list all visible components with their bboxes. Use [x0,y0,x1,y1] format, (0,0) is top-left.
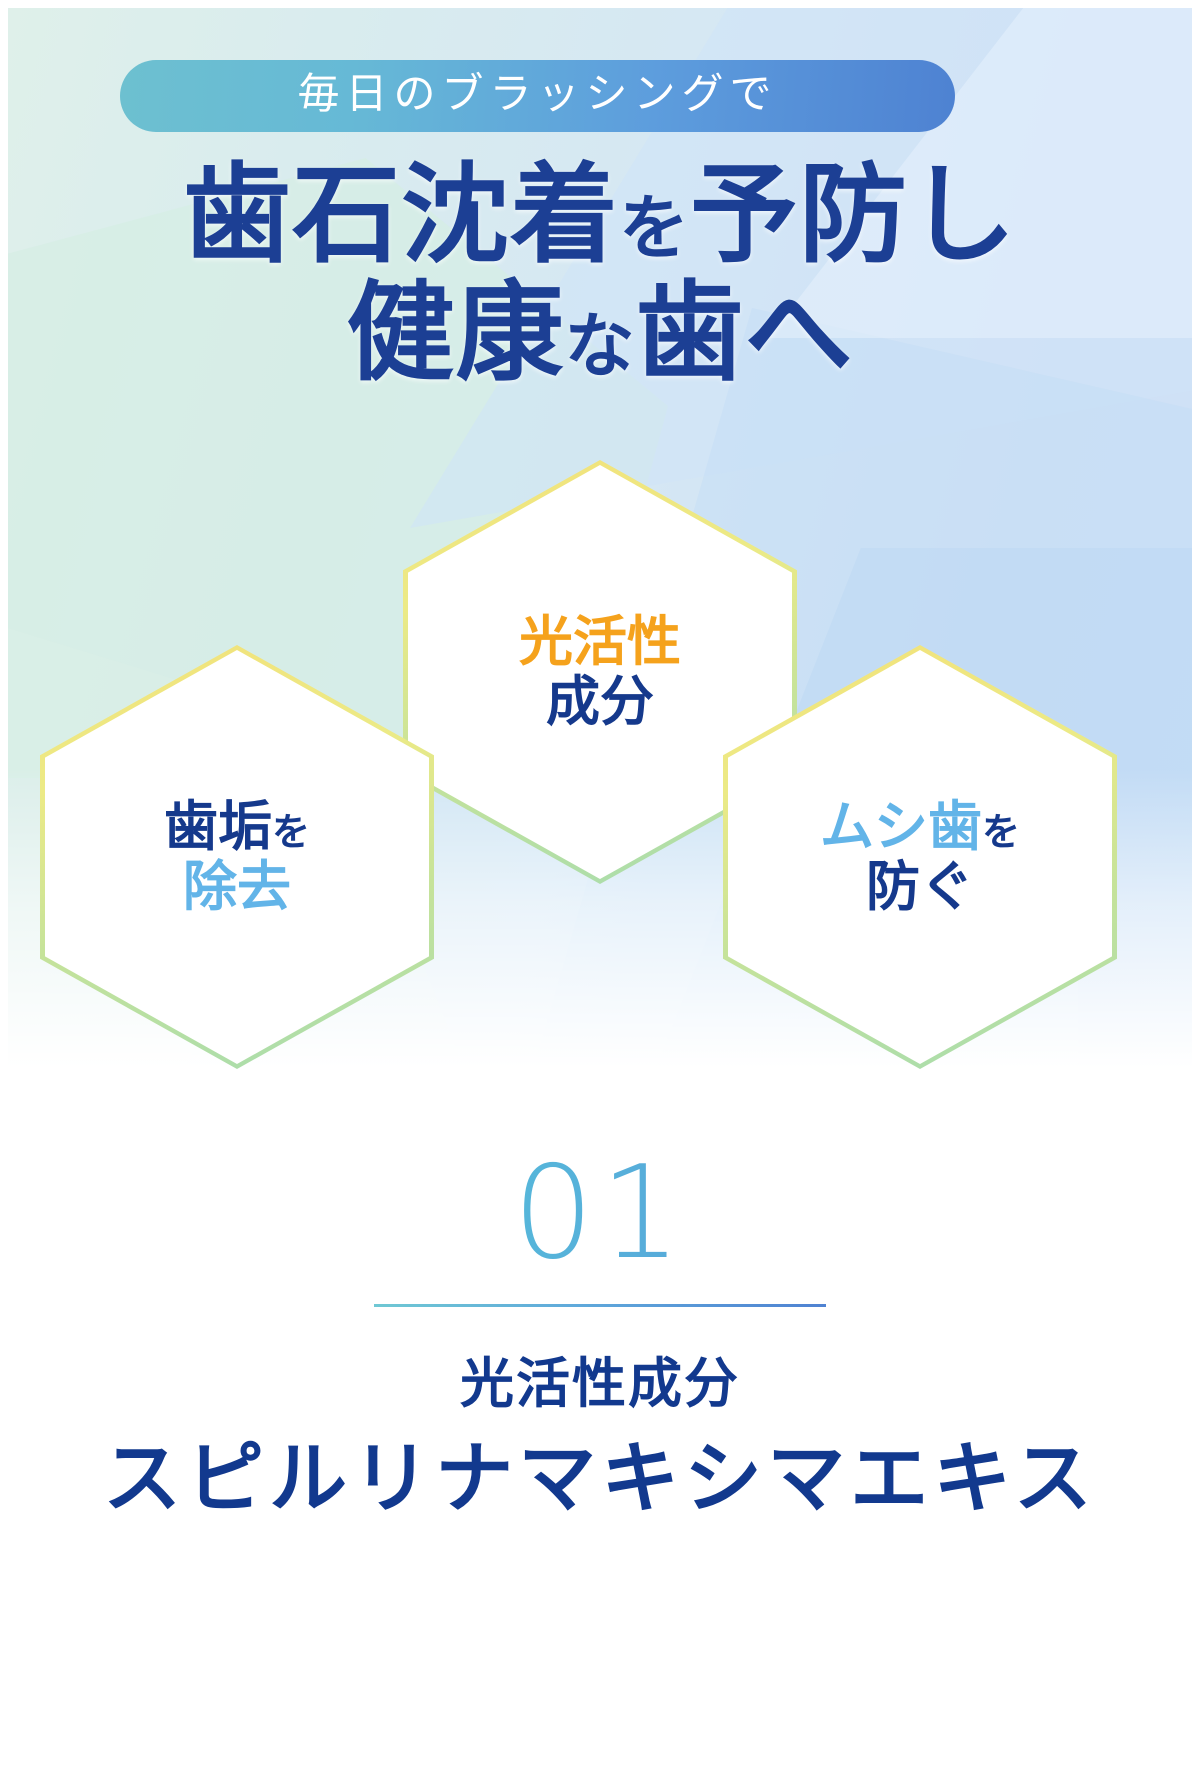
section-number: 01 [0,1150,1200,1278]
tagline-banner: 毎日のブラッシングで [120,60,955,132]
section-divider [374,1304,826,1307]
hexagon-left-line1-particle: を [272,810,310,854]
heading-line1-part1: 歯石沈着 [183,153,619,278]
hexagon-right-line1-main: ムシ歯 [820,795,982,858]
hexagon-content: ムシ歯を 防ぐ [728,650,1112,1064]
hexagon-left-line1-main: 歯垢 [164,795,272,858]
heading-line2-part1: 健康 [346,271,564,396]
hexagon-top-line1: 光活性 [519,612,681,672]
hexagon-content: 歯垢を 除去 [45,650,429,1064]
hexagon-top-line2: 成分 [546,672,654,732]
heading-line-1: 歯石沈着を予防し [0,160,1200,272]
hexagon-left-line1: 歯垢を [164,797,310,857]
main-heading: 歯石沈着を予防し 健康な歯へ [0,160,1200,391]
hexagon-right-line2: 防ぐ [866,857,974,917]
hexagon-left-line2: 除去 [183,857,291,917]
hexagon-plaque-removal: 歯垢を 除去 [40,645,434,1069]
tagline-text: 毎日のブラッシングで [297,74,777,119]
section-subtitle: 光活性成分 [0,1355,1200,1414]
heading-line1-part2: 予防し [690,153,1017,278]
heading-line-2: 健康な歯へ [0,278,1200,390]
section-block: 01 光活性成分 スピルリナマキシマエキス [0,1150,1200,1522]
heading-line2-part2: 歯へ [636,271,854,396]
hexagon-cavity-prevention: ムシ歯を 防ぐ [723,645,1117,1069]
heading-line2-particle: な [565,305,636,387]
hexagon-right-line1-particle: を [982,810,1020,854]
heading-line1-particle: を [619,187,690,269]
section-product-name: スピルリナマキシマエキス [0,1436,1200,1522]
promo-page: 毎日のブラッシングで 歯石沈着を予防し 健康な歯へ 光活性 成分 歯垢を 除去 [0,0,1200,1765]
benefit-hexagon-group: 光活性 成分 歯垢を 除去 ムシ歯を 防ぐ [0,440,1200,1040]
hexagon-right-line1: ムシ歯を [820,797,1020,857]
